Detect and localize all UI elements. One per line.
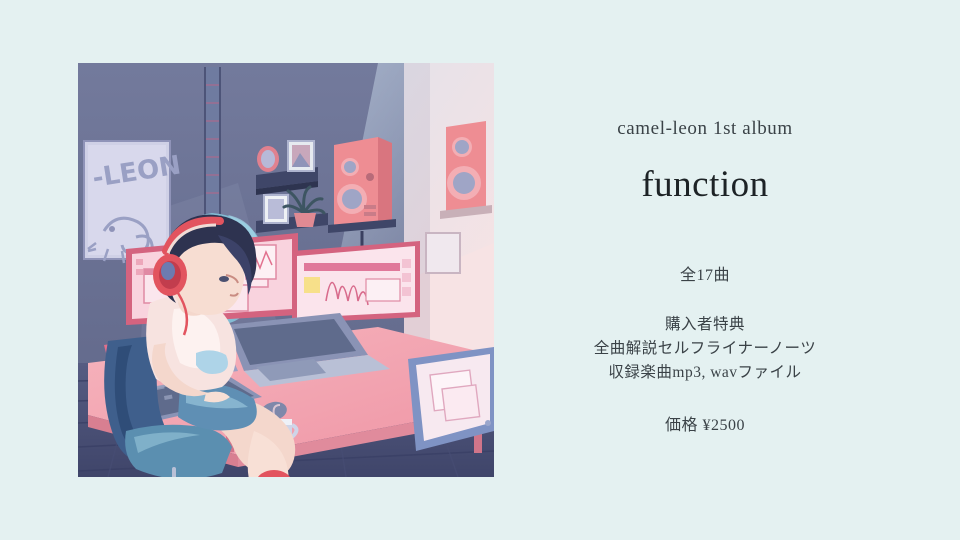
album-title: function bbox=[505, 163, 905, 206]
illustration-svg: -LEON bbox=[78, 63, 494, 477]
album-kicker: camel-leon 1st album bbox=[505, 118, 905, 140]
bonus-heading: 購入者特典 bbox=[505, 313, 905, 337]
wall-frame-right bbox=[426, 233, 460, 273]
studio-speaker-right bbox=[440, 121, 492, 219]
bonus-audio-files: 収録楽曲mp3, wavファイル bbox=[505, 361, 905, 385]
track-count: 全17曲 bbox=[505, 261, 905, 285]
bonus-liner-notes: 全曲解説セルフライナーノーツ bbox=[505, 337, 905, 361]
album-details: 全17曲 購入者特典 全曲解説セルフライナーノーツ 収録楽曲mp3, wavファ… bbox=[505, 261, 905, 435]
album-info-text: camel-leon 1st album function 全17曲 購入者特典… bbox=[505, 63, 905, 477]
monitor-secondary bbox=[292, 241, 420, 323]
album-promo-page: -LEON bbox=[0, 0, 960, 540]
album-cover-illustration: -LEON bbox=[78, 63, 494, 477]
price-label: 価格 ¥2500 bbox=[505, 411, 905, 435]
bonus-list: 購入者特典 全曲解説セルフライナーノーツ 収録楽曲mp3, wavファイル bbox=[505, 313, 905, 385]
